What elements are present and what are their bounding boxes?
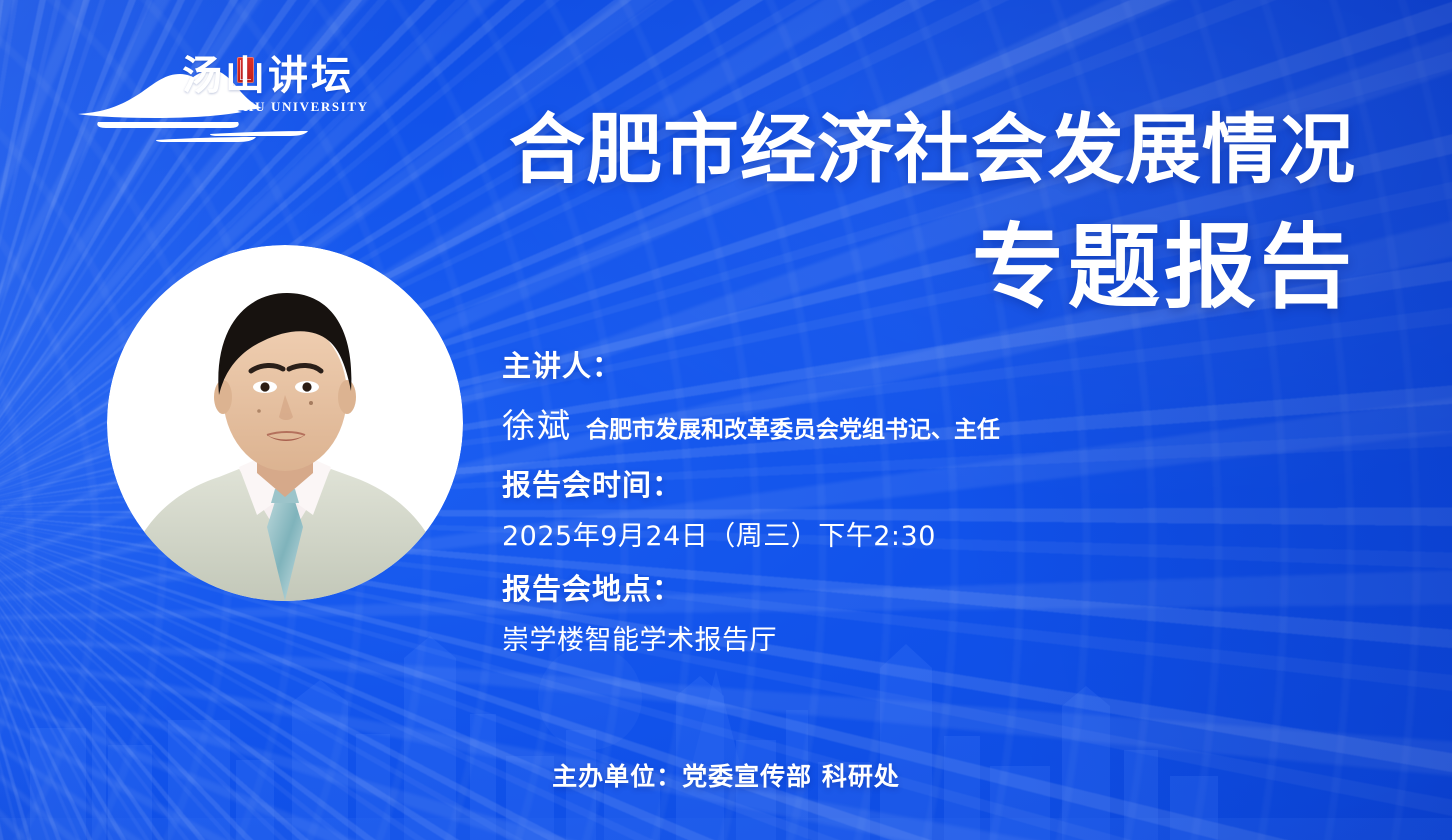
headline-line-1: 合肥市经济社会发展情况 [509, 112, 1356, 188]
place-label: 报告会地点： [502, 571, 1202, 608]
event-details: 主讲人： 徐斌 合肥市发展和改革委员会党组书记、主任 报告会时间： 2025年9… [502, 348, 1202, 675]
speaker-role: 合肥市发展和改革委员会党组书记、主任 [586, 410, 1000, 444]
speaker-portrait [107, 245, 463, 601]
time-value: 2025年9月24日（周三）下午2:30 [502, 514, 1202, 553]
place-value: 崇学楼智能学术报告厅 [502, 618, 1202, 657]
event-poster: 汤山讲坛 CHAOHU UNIVERSITY 合肥市经济社会发展情况 专题报告 [0, 0, 1452, 840]
speaker-name: 徐斌 [502, 399, 572, 447]
time-label: 报告会时间： [502, 467, 1202, 504]
headline-line-2: 专题报告 [509, 222, 1356, 314]
poster-headline: 合肥市经济社会发展情况 专题报告 [509, 112, 1356, 314]
speaker-row: 徐斌 合肥市发展和改革委员会党组书记、主任 [502, 399, 1202, 447]
logo-title-en: CHAOHU UNIVERSITY [198, 100, 369, 113]
logo-title-cn: 汤山讲坛 [182, 56, 354, 96]
organizers-footer: 主办单位：党委宣传部 科研处 [0, 757, 1452, 793]
speaker-label: 主讲人： [502, 348, 1202, 385]
